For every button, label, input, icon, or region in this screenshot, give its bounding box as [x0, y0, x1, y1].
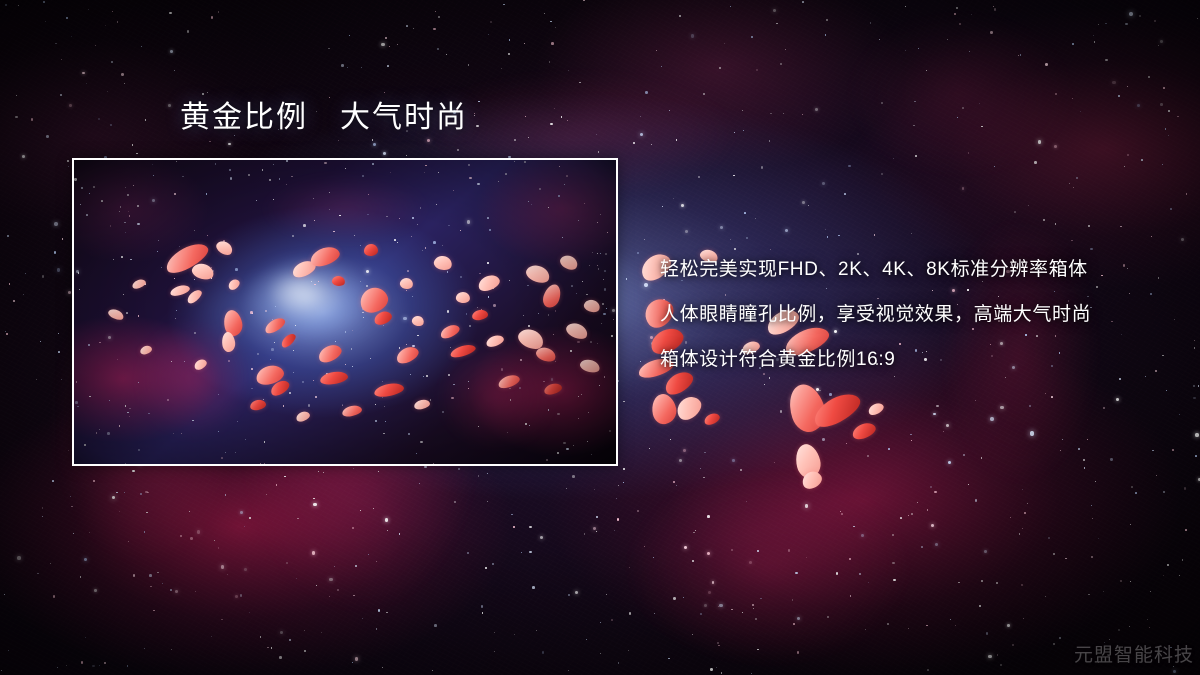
- body-text-block: 轻松完美实现FHD、2K、4K、8K标准分辨率箱体 人体眼睛瞳孔比例，享受视觉效…: [660, 258, 1180, 372]
- body-line-2: 人体眼睛瞳孔比例，享受视觉效果，高端大气时尚: [660, 303, 1180, 327]
- slide-canvas: 黄金比例 大气时尚 轻松完美实现FHD、2K、4K、8K标准分辨率箱体 人体眼睛…: [0, 0, 1200, 675]
- framed-image-panel: [72, 158, 618, 466]
- body-line-3: 箱体设计符合黄金比例16:9: [660, 348, 1180, 372]
- body-line-1: 轻松完美实现FHD、2K、4K、8K标准分辨率箱体: [660, 258, 1180, 282]
- watermark: 元盟智能科技: [1074, 640, 1194, 667]
- page-title: 黄金比例 大气时尚: [180, 101, 468, 135]
- panel-vignette: [74, 160, 616, 464]
